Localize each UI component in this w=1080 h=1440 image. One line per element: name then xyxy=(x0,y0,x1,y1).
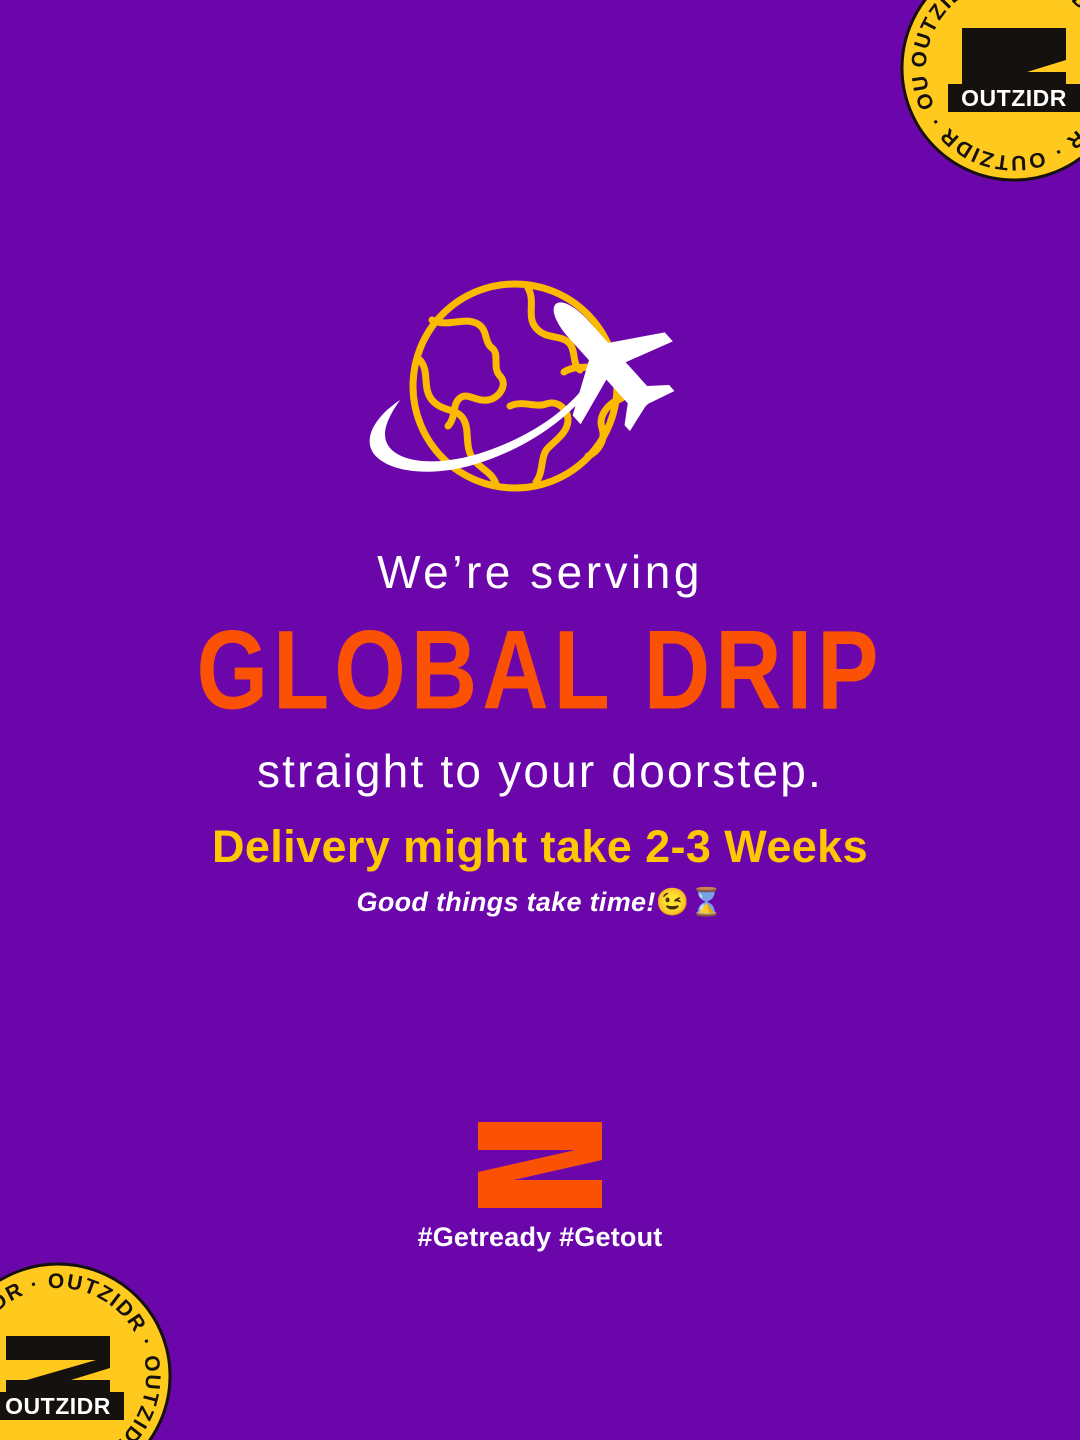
outzidr-badge-top-right: OUTZIDR · OUTZIDR · OUTZIDR · OUTZIDR · … xyxy=(900,0,1080,182)
orbit-trail xyxy=(370,376,596,472)
badge-wordmark: OUTZIDR xyxy=(948,84,1080,112)
wink-hourglass-emoji: 😉⌛ xyxy=(656,887,724,917)
headline-copy-block: We’re serving GLOBAL DRIP straight to yo… xyxy=(0,548,1080,796)
poster-canvas: OUTZIDR · OUTZIDR · OUTZIDR · OUTZIDR · … xyxy=(0,0,1080,1440)
footer-block: #Getready #Getout xyxy=(0,1122,1080,1253)
eyebrow-text: We’re serving xyxy=(0,548,1080,597)
badge-graphic: OUTZIDR · OUTZIDR · OUTZIDR · OUTZIDR · … xyxy=(900,0,1080,182)
badge-graphic: OUTZIDR · OUTZIDR · OUTZIDR · OUTZIDR · … xyxy=(0,1262,172,1440)
delivery-notice-text: Delivery might take 2-3 Weeks xyxy=(0,822,1080,872)
page-title: GLOBAL DRIP xyxy=(0,605,1080,737)
svg-text:OUTZIDR: OUTZIDR xyxy=(5,1393,111,1419)
badge-wordmark: OUTZIDR xyxy=(0,1392,124,1420)
reassurance-line: Good things take time!😉⌛ xyxy=(0,886,1080,918)
hero-svg xyxy=(360,276,720,508)
reassurance-text: Good things take time! xyxy=(357,887,656,917)
subline-text: straight to your doorstep. xyxy=(0,747,1080,796)
z-logo xyxy=(478,1122,602,1208)
outzidr-badge-bottom-left: OUTZIDR · OUTZIDR · OUTZIDR · OUTZIDR · … xyxy=(0,1262,172,1440)
delivery-notice-block: Delivery might take 2-3 Weeks Good thing… xyxy=(0,822,1080,919)
hashtags-text: #Getready #Getout xyxy=(0,1222,1080,1253)
svg-text:OUTZIDR: OUTZIDR xyxy=(961,85,1067,111)
globe-airplane-illustration xyxy=(360,276,720,508)
